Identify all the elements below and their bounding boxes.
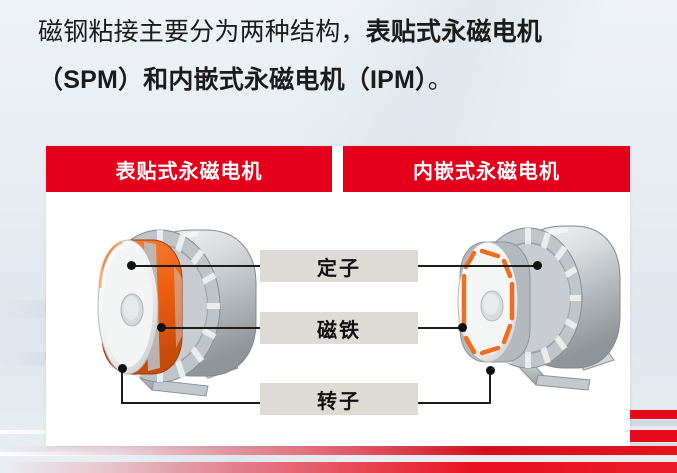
headline-period: 。 bbox=[428, 66, 453, 94]
leader-dot-magnet-right bbox=[458, 323, 467, 332]
leader-line-rotor-left-vertical bbox=[121, 368, 123, 404]
leader-line-magnet-left bbox=[160, 327, 262, 329]
leader-line-magnet-right bbox=[417, 327, 462, 329]
rotor-with-surface-magnets bbox=[98, 240, 182, 374]
card-tab-bar: 表贴式永磁电机 内嵌式永磁电机 bbox=[46, 146, 630, 192]
leader-line-rotor-left-horizontal bbox=[121, 402, 262, 404]
tab-ipm[interactable]: 内嵌式永磁电机 bbox=[343, 146, 630, 192]
leader-line-rotor-right-horizontal bbox=[417, 402, 491, 404]
headline-line-2: （SPM）和内嵌式永磁电机（IPM）。 bbox=[38, 56, 658, 104]
leader-dot-rotor-right bbox=[486, 366, 495, 375]
headline-bold-ipm: （SPM）和内嵌式永磁电机（IPM） bbox=[38, 66, 428, 94]
headline-line-1: 磁钢粘接主要分为两种结构，表贴式永磁电机 bbox=[38, 8, 658, 56]
rotor-body bbox=[458, 242, 530, 362]
headline-bold-spm: 表贴式永磁电机 bbox=[366, 18, 542, 46]
leader-dot-stator-left bbox=[127, 261, 136, 270]
leader-line-rotor-right-vertical bbox=[489, 370, 491, 404]
ribbon-red-bottom bbox=[0, 462, 677, 473]
callout-label-rotor: 转子 bbox=[260, 383, 418, 415]
leader-dot-rotor-left bbox=[118, 364, 127, 373]
headline: 磁钢粘接主要分为两种结构，表贴式永磁电机 （SPM）和内嵌式永磁电机（IPM）。 bbox=[38, 8, 658, 104]
headline-plain-text: 磁钢粘接主要分为两种结构， bbox=[38, 18, 366, 46]
spm-motor-illustration bbox=[56, 218, 276, 408]
ribbon-red-lower bbox=[0, 446, 677, 455]
ipm-motor-illustration bbox=[418, 218, 628, 408]
callout-label-stator: 定子 bbox=[260, 250, 418, 282]
leader-line-stator-left bbox=[130, 265, 262, 267]
leader-line-stator-right bbox=[417, 265, 537, 267]
leader-dot-magnet-left bbox=[157, 323, 166, 332]
leader-dot-stator-right bbox=[533, 261, 542, 270]
callout-label-magnet: 磁铁 bbox=[260, 312, 418, 344]
screenshot-root: 磁钢粘接主要分为两种结构，表贴式永磁电机 （SPM）和内嵌式永磁电机（IPM）。… bbox=[0, 0, 677, 473]
tab-spm[interactable]: 表贴式永磁电机 bbox=[46, 146, 332, 192]
